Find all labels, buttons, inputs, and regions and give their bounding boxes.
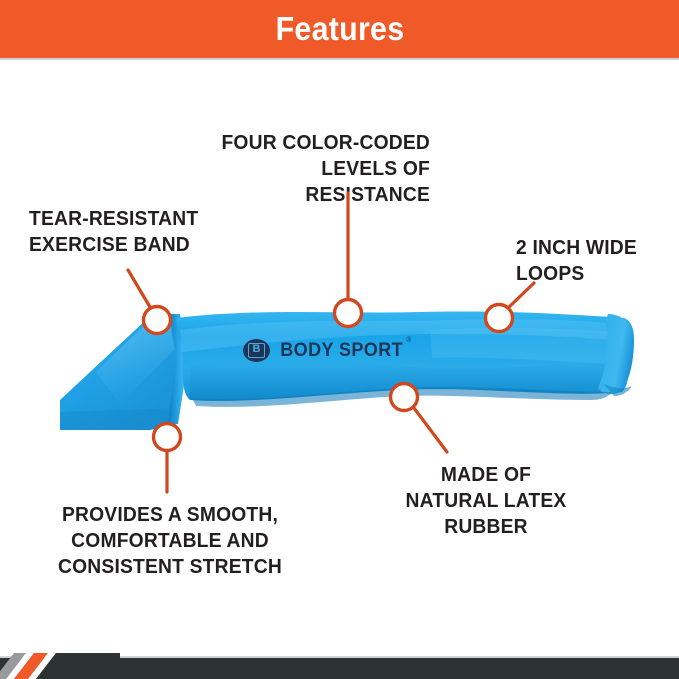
leader-line-latex xyxy=(414,408,447,452)
marker-ring-smooth xyxy=(154,424,181,451)
marker-ring-latex xyxy=(391,384,418,411)
leader-line-tear-resistant xyxy=(128,270,150,307)
marker-ring-two-inch xyxy=(486,305,513,332)
leader-line-two-inch xyxy=(508,283,534,308)
infographic-page: Features xyxy=(0,0,679,679)
callout-markers xyxy=(0,0,679,679)
marker-ring-four-color xyxy=(335,300,362,327)
marker-ring-tear-resistant xyxy=(144,307,171,334)
